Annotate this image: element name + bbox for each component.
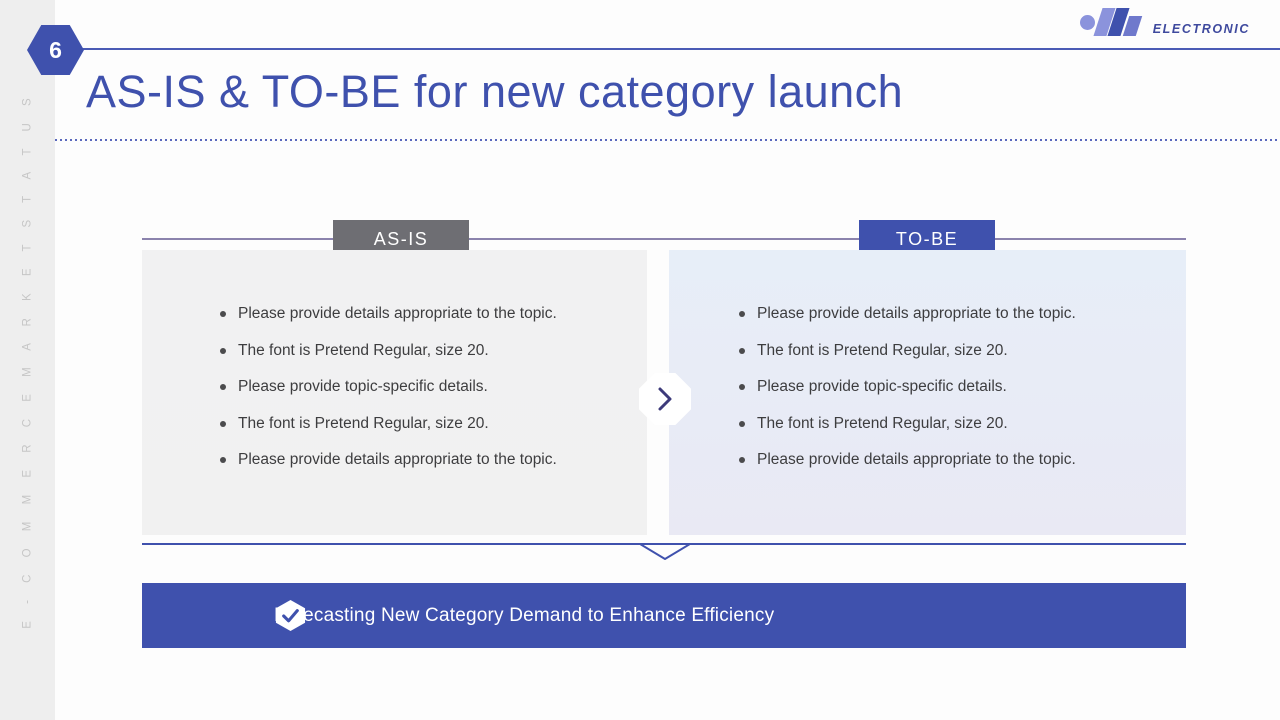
list-item: Please provide details appropriate to th…: [739, 452, 1186, 468]
tobe-bullet-list: Please provide details appropriate to th…: [669, 250, 1186, 468]
list-item: The font is Pretend Regular, size 20.: [739, 416, 1186, 432]
list-item: Please provide details appropriate to th…: [220, 452, 647, 468]
tobe-panel: Please provide details appropriate to th…: [669, 250, 1186, 535]
bottom-notch-shape: [640, 544, 690, 560]
list-item: Please provide details appropriate to th…: [220, 306, 647, 322]
asis-panel: Please provide details appropriate to th…: [142, 250, 647, 535]
slide-canvas: E - C O M M E R C E M A R K E T S T A T …: [0, 0, 1280, 720]
check-hexagon-icon: [274, 599, 307, 632]
list-item: Please provide details appropriate to th…: [739, 306, 1186, 322]
list-item: Please provide topic-specific details.: [220, 379, 647, 395]
list-item: The font is Pretend Regular, size 20.: [220, 343, 647, 359]
asis-bullet-list: Please provide details appropriate to th…: [142, 250, 647, 468]
summary-banner: Forecasting New Category Demand to Enhan…: [142, 583, 1186, 648]
list-item: The font is Pretend Regular, size 20.: [739, 343, 1186, 359]
list-item: Please provide topic-specific details.: [739, 379, 1186, 395]
list-item: The font is Pretend Regular, size 20.: [220, 416, 647, 432]
summary-banner-text: Forecasting New Category Demand to Enhan…: [274, 605, 774, 627]
